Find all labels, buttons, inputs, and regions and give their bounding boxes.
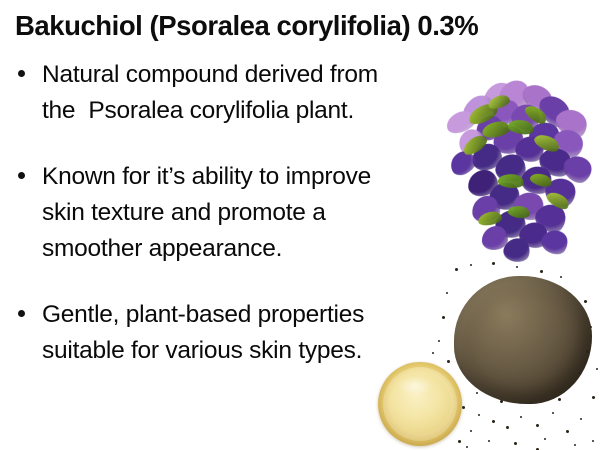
scattered-seed: [590, 326, 592, 328]
scattered-seed: [500, 400, 503, 403]
scattered-seed: [470, 264, 472, 266]
scattered-seed: [506, 426, 509, 429]
scattered-seed: [492, 262, 495, 265]
scattered-seed: [516, 266, 518, 268]
scattered-seed: [574, 444, 576, 446]
scattered-seed: [566, 430, 569, 433]
bowl-highlight: [398, 376, 432, 396]
scattered-seed: [592, 396, 595, 399]
scattered-seed: [578, 372, 580, 374]
list-item-text: Gentle, plant-based properties suitable …: [42, 297, 446, 369]
slide-canvas: Bakuchiol (Psoralea corylifolia) 0.3% Na…: [0, 0, 600, 450]
scattered-seed: [462, 406, 465, 409]
bullet-dot-icon: [18, 310, 25, 317]
scattered-seed: [470, 430, 472, 432]
scattered-seed: [592, 440, 594, 442]
scattered-seed: [478, 414, 480, 416]
scattered-seed: [514, 442, 517, 445]
bullet-dot-icon: [18, 70, 25, 77]
scattered-seed: [466, 446, 468, 448]
scattered-seed: [586, 350, 589, 353]
bakuchiol-seed-pile-photo: [448, 272, 598, 422]
scattered-seed: [558, 398, 561, 401]
bullet-list: Natural compound derived from the Psoral…: [16, 57, 446, 369]
list-item: Natural compound derived from the Psoral…: [16, 57, 446, 129]
scattered-seed: [544, 438, 546, 440]
scattered-seed: [488, 440, 490, 442]
scattered-seed: [492, 420, 495, 423]
page-title: Bakuchiol (Psoralea corylifolia) 0.3%: [15, 9, 590, 43]
bullet-dot-icon: [18, 172, 25, 179]
scattered-seed: [536, 424, 539, 427]
scattered-seed: [560, 276, 562, 278]
scattered-seed: [530, 402, 532, 404]
scattered-seed: [580, 418, 582, 420]
list-item-text: Natural compound derived from the Psoral…: [42, 57, 446, 129]
list-item: Known for it’s ability to improve skin t…: [16, 159, 446, 267]
psoralea-flower-photo: [438, 78, 600, 273]
list-item: Gentle, plant-based properties suitable …: [16, 297, 446, 369]
scattered-seed: [455, 268, 458, 271]
scattered-seed: [584, 300, 587, 303]
scattered-seed: [476, 392, 478, 394]
bakuchiol-oil-bowl-photo: [378, 362, 462, 446]
scattered-seed: [596, 368, 598, 370]
list-item-text: Known for it’s ability to improve skin t…: [42, 159, 446, 267]
scattered-seed: [520, 416, 522, 418]
scattered-seed: [446, 292, 448, 294]
scattered-seed: [552, 412, 554, 414]
seed-grain-texture: [454, 276, 592, 404]
scattered-seed: [540, 270, 543, 273]
